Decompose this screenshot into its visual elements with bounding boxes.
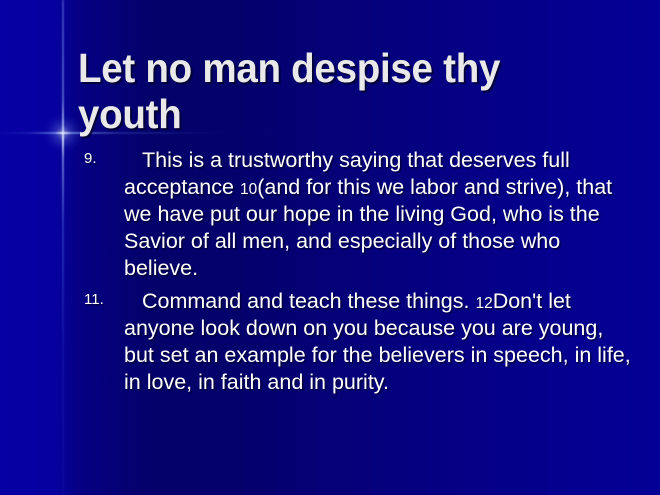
presentation-slide: Let no man despise thy youth 9. This is … xyxy=(0,0,660,495)
paragraph-text: This is a trustworthy saying that deserv… xyxy=(124,147,636,282)
slide-body: 9. This is a trustworthy saying that des… xyxy=(84,147,636,401)
starburst-vertical-beam-icon xyxy=(62,0,64,495)
verse-number: 12 xyxy=(475,295,492,312)
scripture-paragraph: 11. Command and teach these things. 12Do… xyxy=(84,288,636,396)
slide-title: Let no man despise thy youth xyxy=(78,46,604,137)
starburst-core-glow-icon xyxy=(44,114,82,152)
scripture-paragraph: 9. This is a trustworthy saying that des… xyxy=(84,147,636,282)
list-marker: 9. xyxy=(84,151,97,166)
verse-number: 10 xyxy=(240,181,257,198)
paragraph-text: Command and teach these things. 12Don't … xyxy=(124,288,636,396)
list-marker: 11. xyxy=(84,292,104,307)
paragraph-text-before-verse: Command and teach these things. xyxy=(142,289,475,313)
